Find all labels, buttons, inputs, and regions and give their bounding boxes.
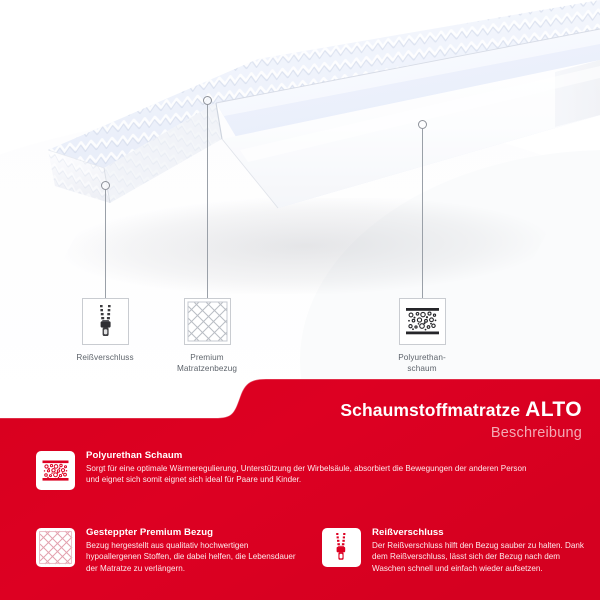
banner-title-block: Schaumstoffmatratze ALTO Beschreibung [340, 398, 582, 441]
feature-text: Polyurethan Schaum Sorgt für eine optima… [86, 449, 536, 486]
foam-bubbles-icon [36, 451, 75, 490]
feature-heading: Gesteppter Premium Bezug [86, 527, 298, 538]
feature-text: Reißverschluss Der Reißverschluss hilft … [372, 526, 584, 574]
product-model: ALTO [525, 398, 582, 421]
callout-zipper: Reißverschluss [50, 298, 160, 363]
callout-leader-cover [207, 105, 208, 298]
quilted-cover-icon [36, 528, 75, 567]
feature-text: Gesteppter Premium Bezug Bezug hergestel… [86, 526, 298, 574]
banner-subtitle: Beschreibung [340, 425, 582, 441]
zipper-icon [322, 528, 361, 567]
feature-body: Sorgt für eine optimale Wärmeregulierung… [86, 463, 536, 486]
feature-zipper: Reißverschluss Der Reißverschluss hilft … [322, 526, 584, 574]
callout-foam-label: Polyurethan- schaum [367, 352, 477, 374]
product-infographic: Reißverschluss Premium Matratzenbezug [0, 0, 600, 600]
zipper-icon [82, 298, 129, 345]
feature-heading: Polyurethan Schaum [86, 450, 536, 461]
feature-body: Der Reißverschluss hilft den Bezug saube… [372, 540, 584, 574]
mattress-render [0, 0, 600, 300]
callout-marker-cover [203, 96, 212, 105]
callout-leader-zipper [105, 190, 106, 298]
feature-heading: Reißverschluss [372, 527, 584, 538]
mattress-illustration [0, 0, 600, 300]
quilted-cover-icon [184, 298, 231, 345]
callout-foam: Polyurethan- schaum [367, 298, 477, 374]
feature-polyurethane-foam: Polyurethan Schaum Sorgt für eine optima… [36, 449, 536, 490]
callout-marker-foam [418, 120, 427, 129]
feature-body: Bezug hergestellt aus qualitativ hochwer… [86, 540, 298, 574]
product-title: Schaumstoffmatratze ALTO [340, 398, 582, 422]
callout-marker-zipper [101, 181, 110, 190]
callout-cover: Premium Matratzenbezug [152, 298, 262, 374]
callout-cover-label: Premium Matratzenbezug [152, 352, 262, 374]
feature-quilted-cover: Gesteppter Premium Bezug Bezug hergestel… [36, 526, 298, 574]
callout-zipper-label: Reißverschluss [50, 352, 160, 363]
hero-section: Reißverschluss Premium Matratzenbezug [0, 0, 600, 400]
callout-leader-foam [422, 129, 423, 298]
foam-layer-icon [399, 298, 446, 345]
